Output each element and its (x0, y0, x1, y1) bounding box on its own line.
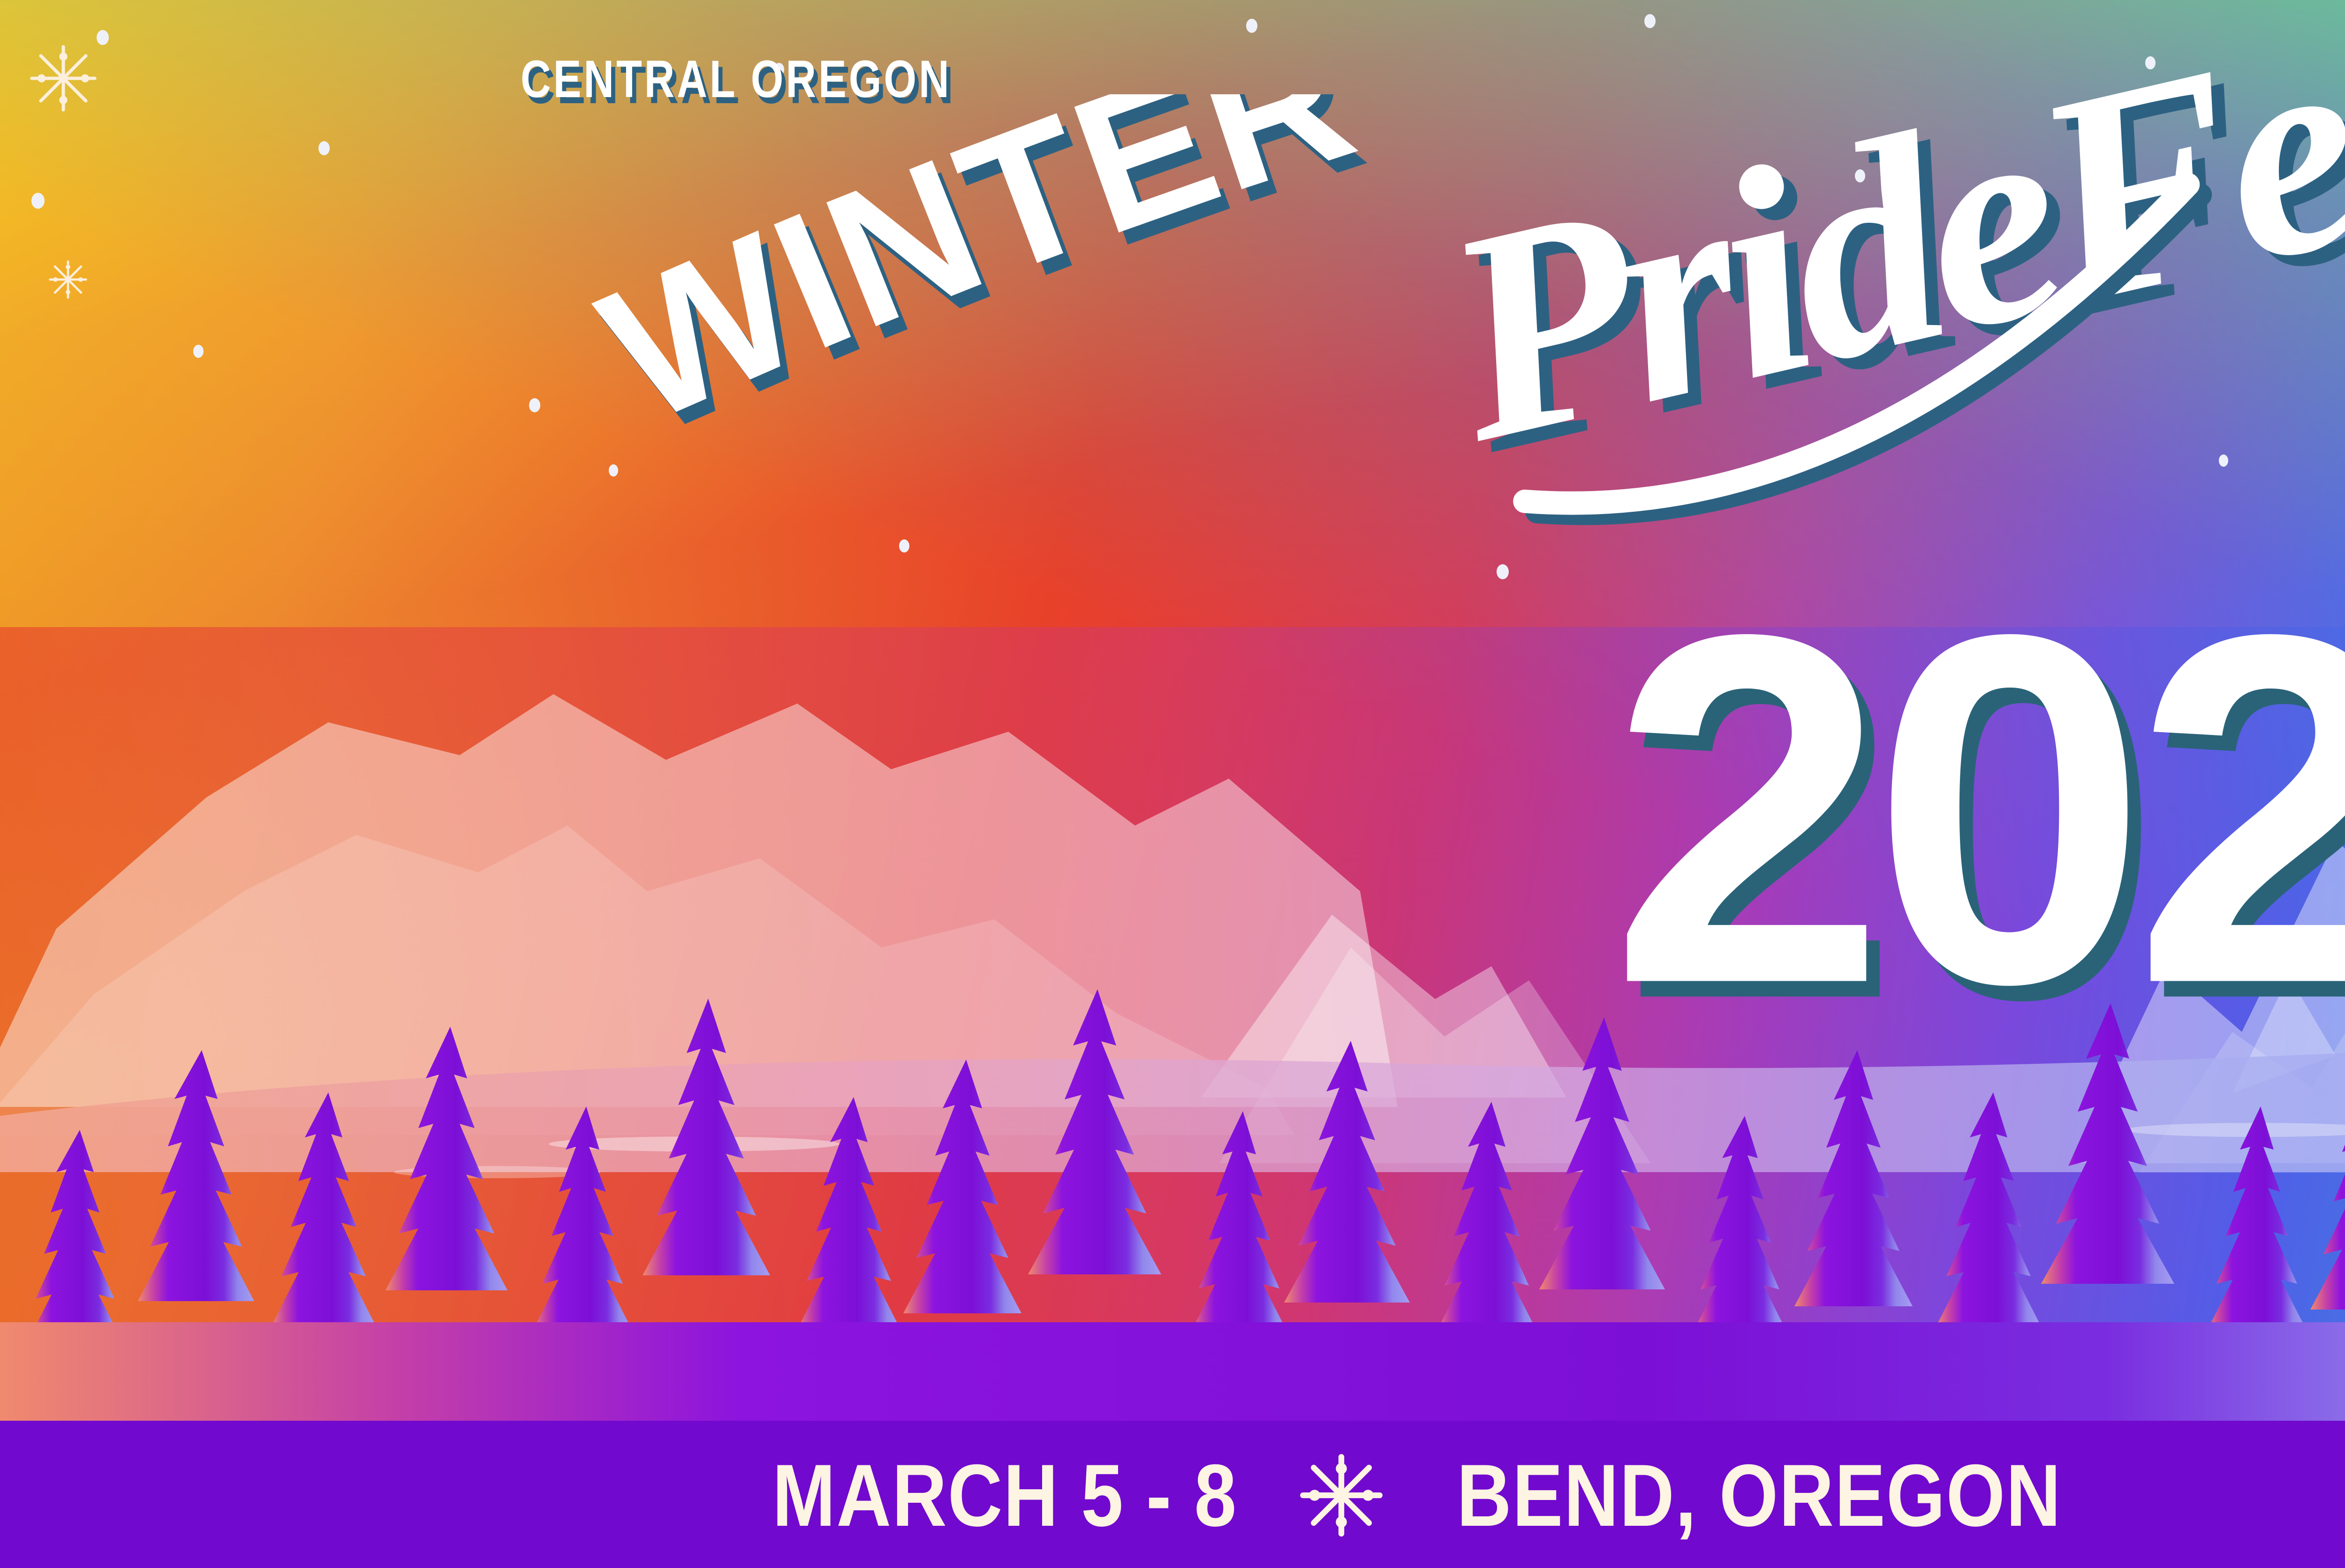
winter-pridefest-poster: CENTRAL OREGON WINTER WINTER PrideFest (0, 0, 2345, 1568)
title-lockup: CENTRAL OREGON WINTER WINTER PrideFest (0, 0, 2345, 1568)
event-location: BEND, OREGON (1457, 1451, 2062, 1539)
year-wordmark: 2026 2026 (1294, 572, 2345, 1090)
event-date: MARCH 5 - 8 (772, 1451, 1237, 1539)
snowflake-icon (1297, 1451, 1386, 1540)
svg-text:2026: 2026 (1610, 572, 2345, 1087)
pridefest-script-wordmark: PrideFest PrideFest (1038, 0, 2345, 612)
event-dateline: MARCH 5 - 8 BEND, OREGON (0, 1439, 2345, 1552)
